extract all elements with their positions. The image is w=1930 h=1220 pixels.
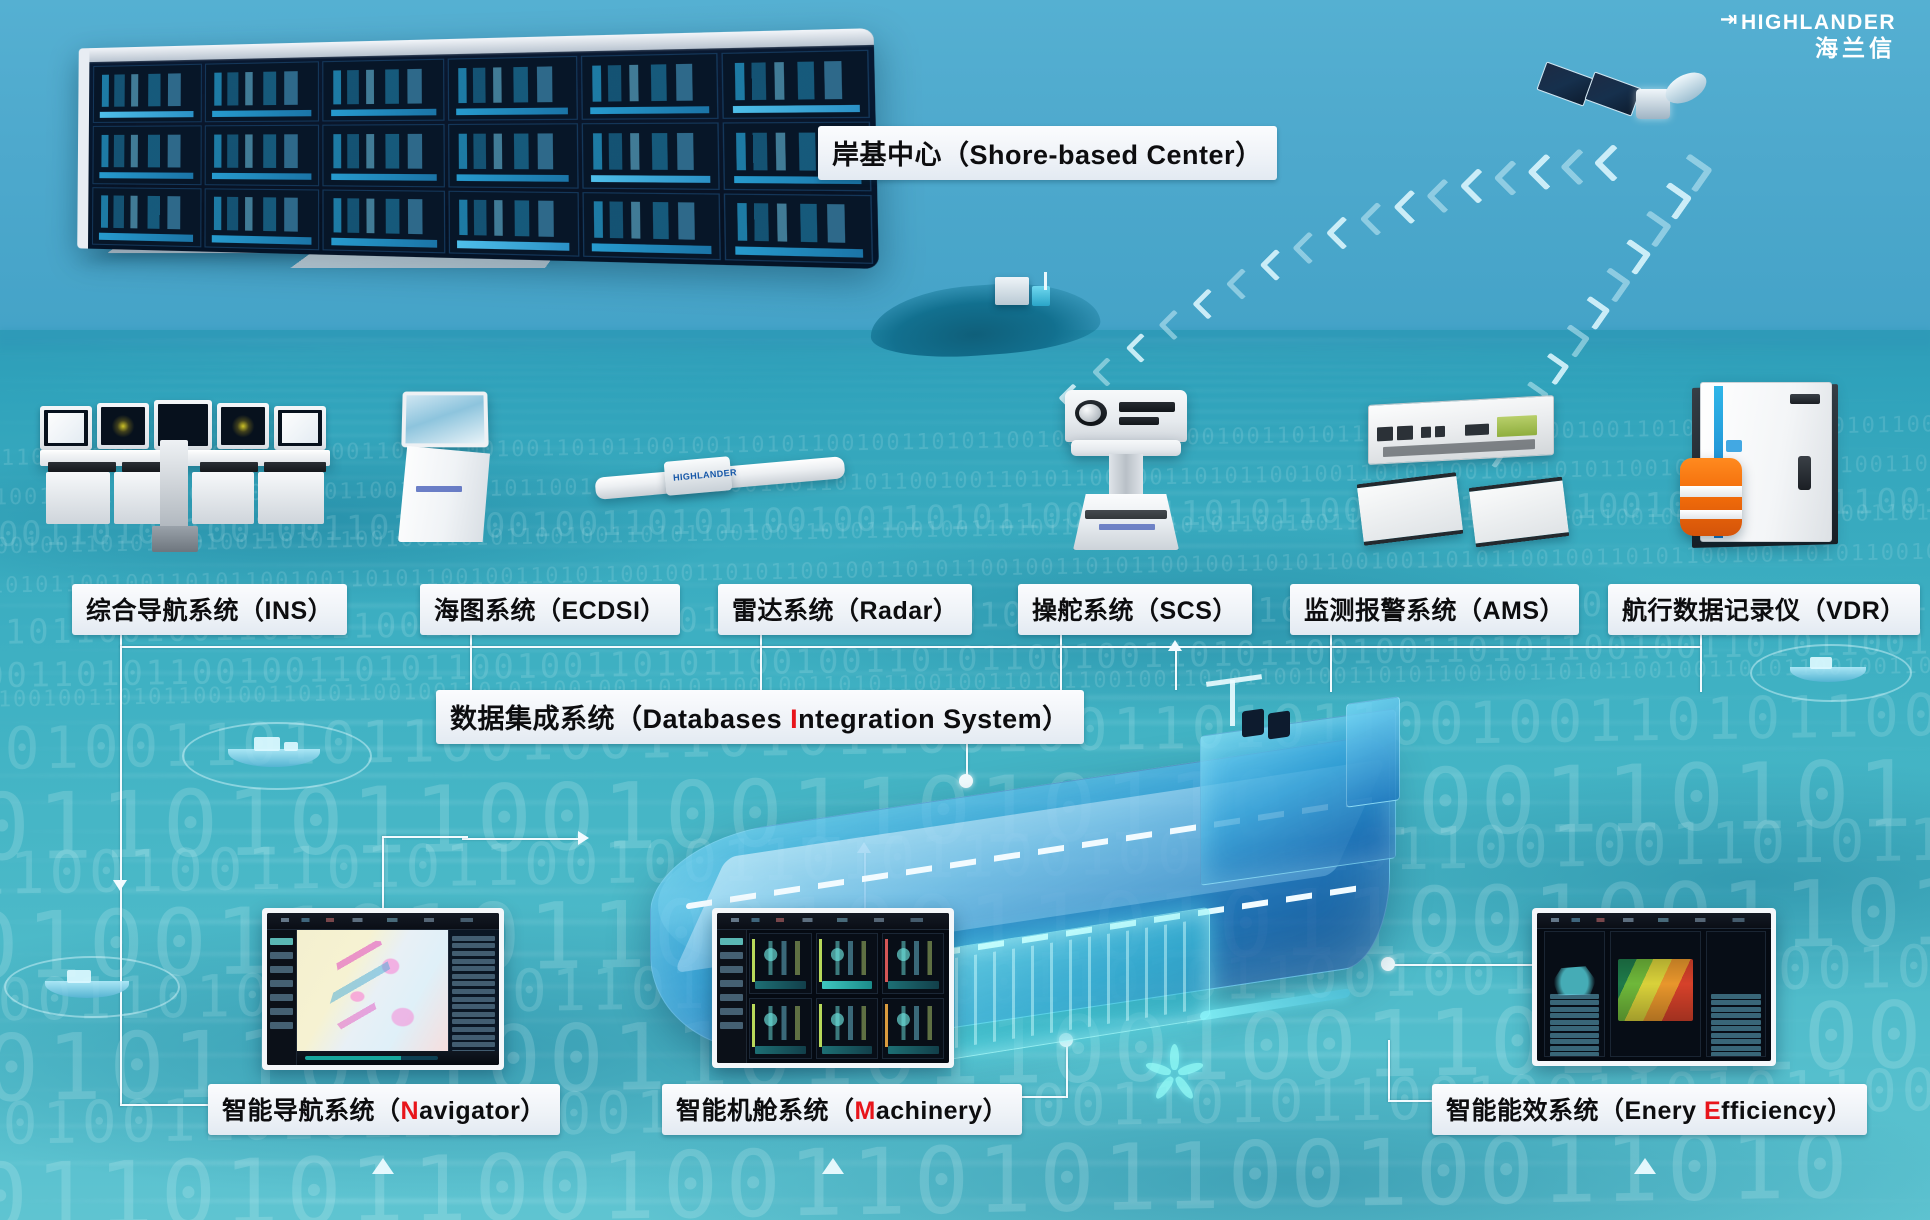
satellite-solar-panel-mid <box>1584 71 1641 116</box>
boat-wake-left <box>182 722 372 790</box>
ee-highlight: E <box>1704 1097 1721 1125</box>
ship-propeller-shaft <box>1200 988 1350 1021</box>
dis-highlight: I <box>790 704 798 734</box>
ship-exhaust-stack-1 <box>1242 708 1264 737</box>
dis-suffix: ntegration System） <box>798 704 1070 734</box>
ins-console-artwork <box>40 400 340 560</box>
label-radar[interactable]: 雷达系统（Radar） <box>718 584 972 635</box>
nav-suffix: avigator） <box>419 1097 546 1125</box>
nav-prefix: 智能导航系统（ <box>222 1097 401 1125</box>
radar-scanner-artwork: HIGHLANDER <box>595 445 845 525</box>
label-machinery[interactable]: 智能机舱系统（Machinery） <box>662 1084 1022 1135</box>
label-scs[interactable]: 操舵系统（SCS） <box>1018 584 1252 635</box>
marker-triangle-navigator <box>372 1158 394 1174</box>
navigator-monitor <box>262 908 504 1070</box>
scs-console-artwork <box>1055 390 1205 560</box>
nav-highlight: N <box>401 1097 420 1125</box>
energy-efficiency-monitor <box>1532 908 1776 1066</box>
label-databases-integration-system[interactable]: 数据集成系统（Databases Integration System） <box>436 690 1084 744</box>
vdr-cabinet-artwork <box>1680 382 1860 562</box>
ecdis-kiosk-artwork <box>390 390 500 560</box>
island-building-secondary <box>1032 286 1050 306</box>
infographic-canvas: 1001101011001001101011001001101011001001… <box>0 0 1930 1220</box>
marker-triangle-energy <box>1634 1158 1656 1174</box>
ee-suffix: fficiency） <box>1721 1097 1852 1125</box>
mach-suffix: achinery） <box>876 1097 1008 1125</box>
label-ins[interactable]: 综合导航系统（INS） <box>72 584 347 635</box>
marker-triangle-machinery <box>822 1158 844 1174</box>
machinery-monitor <box>712 908 954 1068</box>
ee-prefix: 智能能效系统（Enery <box>1446 1097 1704 1125</box>
logo-wordmark: HIGHLANDER <box>1741 11 1896 34</box>
shore-control-videowall <box>77 28 879 269</box>
ship-funnel <box>1346 696 1400 808</box>
dis-prefix: 数据集成系统（Databases <box>450 704 790 734</box>
label-shore-based-center[interactable]: 岸基中心（Shore-based Center） <box>818 126 1277 180</box>
boat-wake-lower-left <box>4 956 180 1018</box>
communication-satellite <box>1540 55 1770 165</box>
label-ecdis[interactable]: 海图系统（ECDSI） <box>420 584 680 635</box>
mach-prefix: 智能机舱系统（ <box>676 1097 855 1125</box>
logo-dash-icon: ⇥ <box>1720 9 1739 30</box>
island-antenna-mast <box>1044 272 1047 290</box>
videowall-screen-grid <box>88 45 879 269</box>
ship-mast <box>1230 680 1235 726</box>
ams-modules-artwork <box>1360 400 1590 560</box>
label-energy-efficiency[interactable]: 智能能效系统（Enery Efficiency） <box>1432 1084 1867 1135</box>
boat-wake-right <box>1750 644 1912 702</box>
island-building <box>995 277 1029 305</box>
ship-propeller <box>1148 1044 1200 1096</box>
label-navigator[interactable]: 智能导航系统（Navigator） <box>208 1084 560 1135</box>
ship-exhaust-stack-2 <box>1268 710 1290 739</box>
mach-highlight: M <box>855 1097 876 1125</box>
label-ams[interactable]: 监测报警系统（AMS） <box>1290 584 1579 635</box>
label-vdr[interactable]: 航行数据记录仪（VDR） <box>1608 584 1920 635</box>
